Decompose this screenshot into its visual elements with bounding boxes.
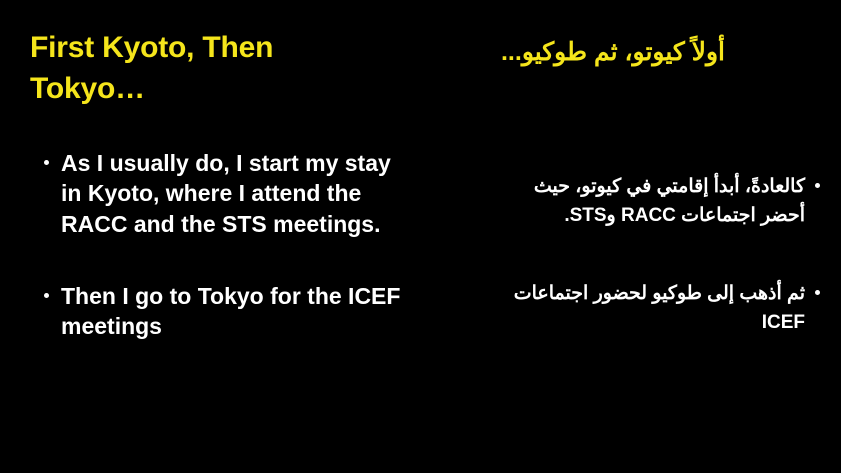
list-item-text-line-1: كالعادةً، أبدأ إقامتي في كيوتو، حيث — [428, 172, 805, 201]
list-item-text: As I usually do, I start my stay in Kyot… — [61, 150, 391, 237]
bullet-dot-icon — [44, 160, 49, 165]
list-item: Then I go to Tokyo for the ICEF meetings — [40, 281, 410, 342]
list-item: كالعادةً، أبدأ إقامتي في كيوتو، حيث أحضر… — [428, 172, 823, 231]
slide-canvas: First Kyoto, Then Tokyo… أولاً كيوتو، ثم… — [0, 0, 841, 473]
list-item: As I usually do, I start my stay in Kyot… — [40, 148, 410, 239]
list-item-text-line-2: ICEF — [428, 308, 805, 337]
bullet-dot-icon — [815, 290, 820, 295]
bullet-list-arabic: كالعادةً، أبدأ إقامتي في كيوتو، حيث أحضر… — [428, 172, 823, 338]
bullet-dot-icon — [44, 293, 49, 298]
list-item: ثم أذهب إلى طوكيو لحضور اجتماعات ICEF — [428, 279, 823, 338]
list-item-text-line-1: ثم أذهب إلى طوكيو لحضور اجتماعات — [428, 279, 805, 308]
page-title-arabic: أولاً كيوتو، ثم طوكيو... — [433, 36, 793, 69]
list-item-text-line-2: أحضر اجتماعات RACC وSTS. — [428, 201, 805, 230]
bullet-dot-icon — [815, 183, 820, 188]
bullet-list-english: As I usually do, I start my stay in Kyot… — [40, 148, 410, 342]
list-item-text: Then I go to Tokyo for the ICEF meetings — [61, 283, 400, 339]
page-title-english: First Kyoto, Then Tokyo… — [30, 28, 360, 109]
